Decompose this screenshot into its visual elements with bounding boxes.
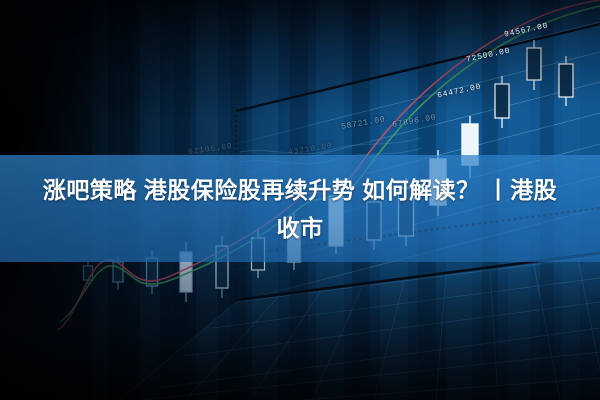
headline-text-block: 涨吧策略 港股保险股再续升势 如何解读？ 丨港股 收市 — [0, 155, 600, 262]
stock-banner-image: 94567.00 72500.00 64472.00 67896.00 5872… — [0, 0, 600, 400]
headline-line-1: 涨吧策略 港股保险股再续升势 如何解读？ 丨港股 — [43, 171, 557, 209]
headline-line-2: 收市 — [277, 209, 324, 247]
